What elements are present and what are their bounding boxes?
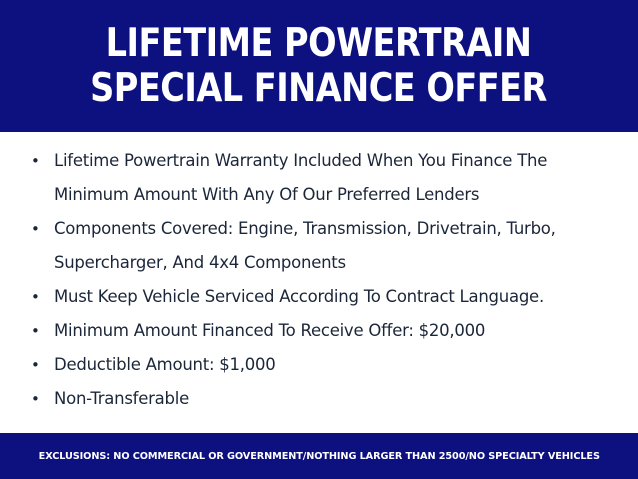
offer-slide: LIFETIME POWERTRAIN SPECIAL FINANCE OFFE… bbox=[0, 0, 638, 479]
offer-bullet-list: • Lifetime Powertrain Warranty Included … bbox=[18, 144, 620, 416]
list-item-label: Non-Transferable bbox=[54, 382, 620, 416]
footer-banner: EXCLUSIONS: NO COMMERCIAL OR GOVERNMENT/… bbox=[0, 433, 638, 479]
bullet-dot-icon: • bbox=[31, 212, 40, 246]
list-item: • Lifetime Powertrain Warranty Included … bbox=[18, 144, 620, 212]
offer-details-body: • Lifetime Powertrain Warranty Included … bbox=[0, 132, 638, 433]
list-item: • Deductible Amount: $1,000 bbox=[18, 348, 620, 382]
list-item-label: Must Keep Vehicle Serviced According To … bbox=[54, 280, 620, 314]
list-item: • Minimum Amount Financed To Receive Off… bbox=[18, 314, 620, 348]
page-title-line-2: SPECIAL FINANCE OFFER bbox=[91, 66, 548, 111]
list-item: • Components Covered: Engine, Transmissi… bbox=[18, 212, 620, 280]
bullet-dot-icon: • bbox=[31, 314, 40, 348]
bullet-dot-icon: • bbox=[31, 144, 40, 178]
list-item-label: Deductible Amount: $1,000 bbox=[54, 348, 620, 382]
list-item-label: Lifetime Powertrain Warranty Included Wh… bbox=[54, 144, 620, 212]
list-item: • Non-Transferable bbox=[18, 382, 620, 416]
list-item-label: Minimum Amount Financed To Receive Offer… bbox=[54, 314, 620, 348]
list-item: • Must Keep Vehicle Serviced According T… bbox=[18, 280, 620, 314]
bullet-dot-icon: • bbox=[31, 280, 40, 314]
bullet-dot-icon: • bbox=[31, 382, 40, 416]
header-banner: LIFETIME POWERTRAIN SPECIAL FINANCE OFFE… bbox=[0, 0, 638, 132]
bullet-dot-icon: • bbox=[31, 348, 40, 382]
page-title-line-1: LIFETIME POWERTRAIN bbox=[106, 21, 532, 66]
list-item-label: Components Covered: Engine, Transmission… bbox=[54, 212, 620, 280]
exclusions-text: EXCLUSIONS: NO COMMERCIAL OR GOVERNMENT/… bbox=[38, 451, 599, 462]
